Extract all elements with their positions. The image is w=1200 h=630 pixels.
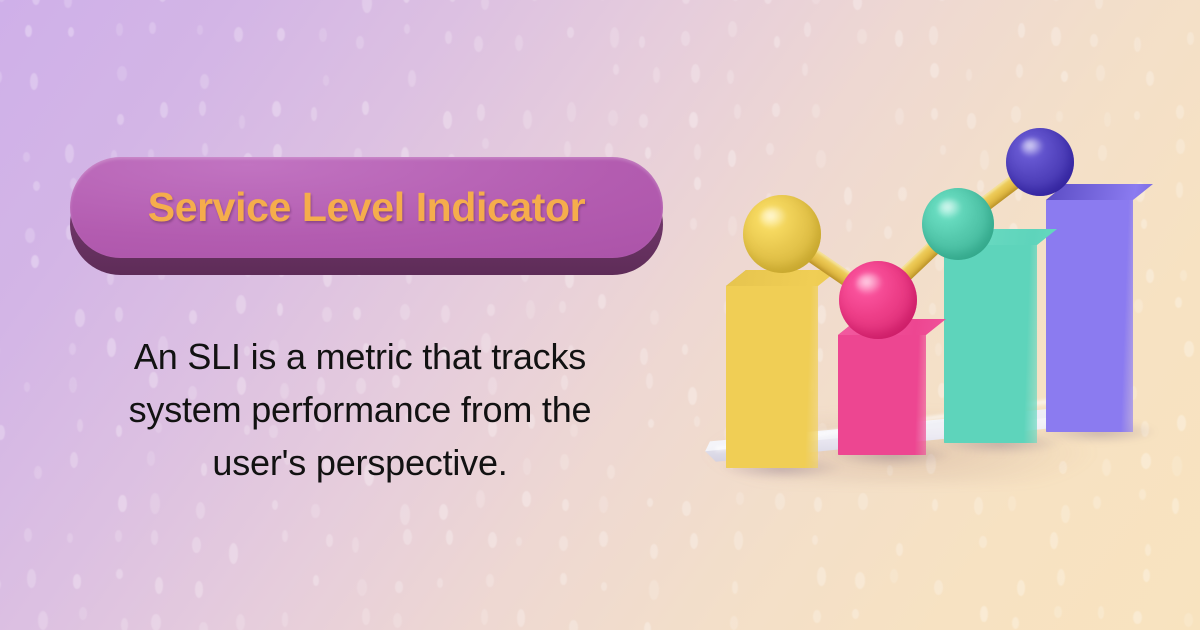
- background-dot: [979, 536, 987, 548]
- background-dot: [1057, 569, 1065, 586]
- bar-front-face: [726, 270, 838, 468]
- background-dot: [730, 616, 738, 630]
- background-dot: [1176, 105, 1185, 119]
- background-dot: [774, 36, 780, 47]
- background-dot: [734, 104, 741, 119]
- background-dot: [895, 30, 903, 47]
- background-dot: [930, 63, 939, 78]
- background-dot: [1017, 580, 1025, 596]
- background-dot: [1176, 139, 1185, 154]
- background-dot: [931, 108, 938, 120]
- background-dot: [728, 21, 738, 37]
- background-dot: [938, 0, 945, 1]
- background-dot: [813, 610, 821, 624]
- bar-2: [838, 319, 946, 455]
- page-title: Service Level Indicator: [148, 184, 585, 231]
- background-dot: [1054, 606, 1062, 618]
- background-dot: [764, 0, 772, 4]
- background-dot: [1052, 0, 1060, 1]
- bar-4: [1046, 184, 1153, 432]
- background-dot: [732, 581, 738, 594]
- background-dot: [1134, 111, 1140, 121]
- trend-marker-1: [743, 195, 821, 273]
- text-column: Service Level Indicator An SLI is a metr…: [0, 0, 700, 630]
- background-dot: [804, 22, 811, 37]
- bar-front-face: [1046, 184, 1153, 432]
- background-dot: [896, 543, 903, 556]
- background-dot: [811, 0, 820, 4]
- background-dot: [1146, 71, 1155, 86]
- background-dot: [1018, 23, 1026, 38]
- background-dot: [1172, 456, 1182, 476]
- bar-1: [726, 270, 838, 468]
- trend-marker-2: [839, 261, 917, 339]
- background-dot: [812, 104, 821, 118]
- background-dot: [1061, 71, 1068, 82]
- background-dot: [1184, 341, 1193, 357]
- bar-front-face: [944, 229, 1057, 443]
- background-dot: [1051, 27, 1060, 47]
- background-dot: [1012, 617, 1019, 629]
- trend-marker-3: [922, 188, 994, 260]
- background-dot: [1177, 415, 1186, 432]
- background-dot: [1145, 544, 1151, 556]
- title-badge: Service Level Indicator: [70, 157, 663, 275]
- background-dot: [1016, 64, 1023, 78]
- background-dot: [1175, 297, 1182, 308]
- bar-chart-illustration: [690, 120, 1110, 510]
- background-dot: [1050, 532, 1059, 549]
- background-dot: [890, 569, 898, 583]
- title-badge-surface: Service Level Indicator: [70, 157, 663, 258]
- background-dot: [1139, 489, 1146, 500]
- background-dot: [1134, 37, 1141, 52]
- background-dot: [929, 26, 938, 45]
- background-dot: [966, 69, 972, 81]
- background-dot: [1187, 32, 1195, 45]
- background-dot: [1133, 611, 1142, 625]
- background-dot: [1184, 613, 1193, 627]
- background-dot: [772, 103, 780, 117]
- background-dot: [734, 531, 743, 551]
- background-dot: [855, 572, 865, 588]
- trend-marker-4: [1006, 128, 1074, 196]
- background-dot: [732, 0, 739, 1]
- background-dot: [1176, 182, 1184, 198]
- background-dot: [980, 606, 987, 622]
- infographic-card: Service Level Indicator An SLI is a metr…: [0, 0, 1200, 630]
- background-dot: [857, 29, 867, 44]
- background-dot: [1180, 270, 1187, 282]
- background-dot: [1090, 34, 1098, 47]
- background-dot: [1172, 498, 1179, 514]
- background-dot: [853, 0, 862, 10]
- background-dot: [1096, 65, 1105, 81]
- background-dot: [852, 609, 858, 619]
- background-dot: [1098, 606, 1104, 619]
- bar-3: [944, 229, 1057, 443]
- background-dot: [1095, 0, 1102, 9]
- background-dot: [1141, 453, 1151, 469]
- background-dot: [727, 70, 734, 84]
- background-dot: [812, 535, 818, 545]
- body-description: An SLI is a metric that tracks system pe…: [82, 330, 638, 489]
- background-dot: [934, 580, 943, 595]
- background-dot: [817, 567, 826, 586]
- background-dot: [802, 63, 808, 77]
- bar-front-face: [838, 319, 946, 455]
- background-dot: [1143, 569, 1150, 582]
